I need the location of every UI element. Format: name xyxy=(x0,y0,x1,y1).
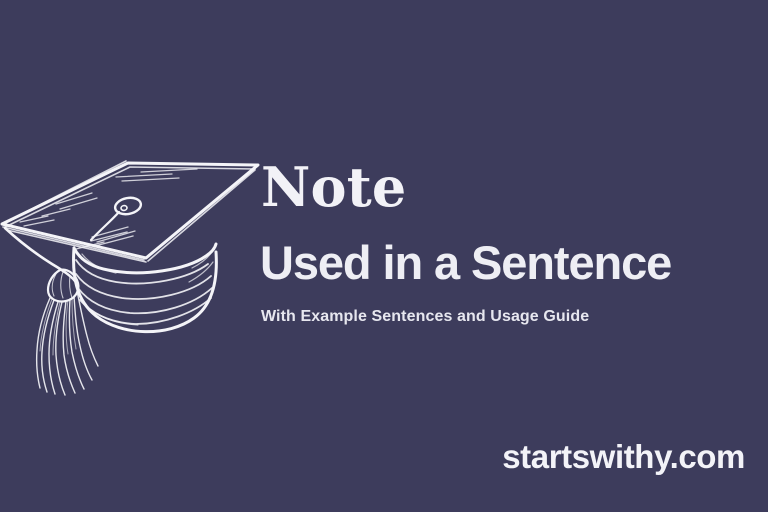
page-tagline: With Example Sentences and Usage Guide xyxy=(261,307,589,326)
page-subtitle: Used in a Sentence xyxy=(260,239,671,286)
page-canvas: Note Used in a Sentence With Example Sen… xyxy=(0,0,768,512)
brand-watermark: startswithy.com xyxy=(502,440,745,473)
page-title: Note xyxy=(261,160,406,214)
graduation-cap-icon xyxy=(0,148,271,373)
